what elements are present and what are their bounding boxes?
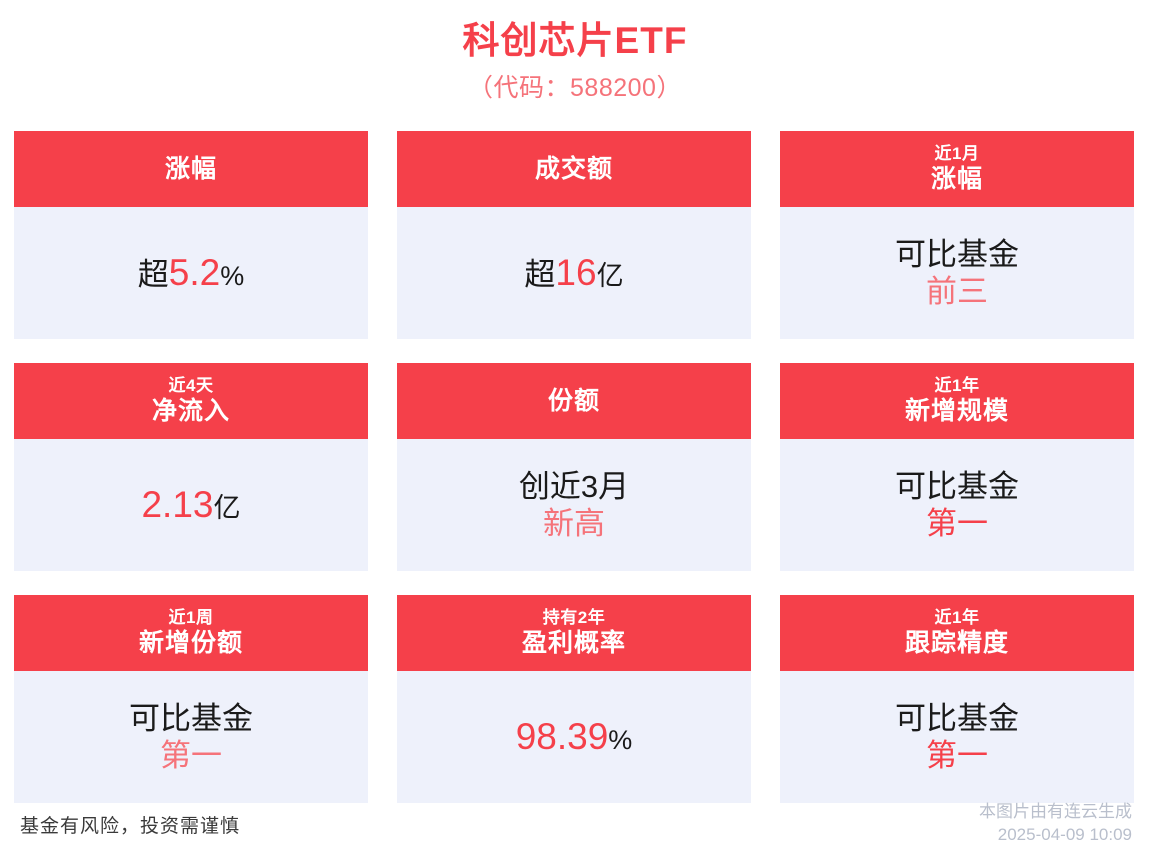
timestamp-label: 2025-04-09 10:09 (979, 823, 1132, 846)
value-unit: % (220, 261, 244, 291)
card-body: 超16亿 (397, 207, 751, 339)
card-header-sub: 持有2年 (543, 608, 605, 628)
header: 科创芯片ETF （代码：588200） (0, 0, 1150, 108)
value-number: 2.13 (141, 484, 213, 525)
card-value-line-2: 前三 (926, 273, 988, 310)
card-header-sub: 近1年 (935, 376, 980, 396)
metric-card-tracking-accuracy: 近1年 跟踪精度 可比基金 第一 (780, 595, 1134, 803)
footer-source: 本图片由有连云生成 2025-04-09 10:09 (979, 800, 1132, 846)
card-header: 涨幅 (14, 131, 368, 207)
card-header-title: 跟踪精度 (905, 629, 1009, 658)
value-unit: % (608, 725, 632, 755)
card-header: 持有2年 盈利概率 (397, 595, 751, 671)
card-header-title: 新增规模 (905, 397, 1009, 426)
card-value-line: 2.13亿 (141, 483, 240, 527)
card-value-line-2: 第一 (926, 737, 988, 774)
card-body: 2.13亿 (14, 439, 368, 571)
card-header-title: 净流入 (152, 397, 230, 426)
source-label: 本图片由有连云生成 (979, 800, 1132, 823)
card-body: 可比基金 第一 (14, 671, 368, 803)
page-title: 科创芯片ETF (0, 18, 1150, 64)
card-header: 近4天 净流入 (14, 363, 368, 439)
value-unit: 亿 (597, 261, 624, 291)
value-prefix: 超 (524, 257, 555, 292)
card-body: 可比基金 第一 (780, 439, 1134, 571)
card-header: 近1周 新增份额 (14, 595, 368, 671)
value-number: 98.39 (516, 716, 609, 757)
card-body: 超5.2% (14, 207, 368, 339)
card-value-line: 超5.2% (138, 251, 244, 295)
card-header-title: 涨幅 (165, 155, 217, 184)
disclaimer-text: 基金有风险，投资需谨慎 (20, 811, 240, 838)
card-value-line-2: 第一 (926, 505, 988, 542)
value-number: 16 (555, 252, 596, 293)
value-number: 5.2 (169, 252, 220, 293)
card-header: 近1年 跟踪精度 (780, 595, 1134, 671)
card-value-line-1: 可比基金 (129, 700, 253, 737)
card-header-title: 份额 (548, 387, 600, 416)
metric-card-change: 涨幅 超5.2% (14, 131, 368, 339)
value-prefix: 超 (138, 257, 169, 292)
card-value-line-2: 第一 (160, 737, 222, 774)
fund-code-subtitle: （代码：588200） (0, 68, 1150, 108)
value-unit: 亿 (214, 493, 241, 523)
card-value-line-1: 可比基金 (895, 468, 1019, 505)
card-header-title: 盈利概率 (522, 629, 626, 658)
card-header-title: 成交额 (535, 155, 613, 184)
card-value-line: 超16亿 (524, 251, 623, 295)
metric-card-new-scale: 近1年 新增规模 可比基金 第一 (780, 363, 1134, 571)
card-header: 份额 (397, 363, 751, 439)
card-body: 可比基金 前三 (780, 207, 1134, 339)
card-header-sub: 近1月 (935, 144, 980, 164)
card-header: 近1年 新增规模 (780, 363, 1134, 439)
card-body: 可比基金 第一 (780, 671, 1134, 803)
card-body: 98.39% (397, 671, 751, 803)
card-header-sub: 近1年 (935, 608, 980, 628)
metric-card-turnover: 成交额 超16亿 (397, 131, 751, 339)
metric-card-profit-probability: 持有2年 盈利概率 98.39% (397, 595, 751, 803)
card-header: 成交额 (397, 131, 751, 207)
card-value-line-1: 创近3月 (519, 468, 629, 505)
metric-card-month-change: 近1月 涨幅 可比基金 前三 (780, 131, 1134, 339)
card-header-sub: 近4天 (169, 376, 214, 396)
metric-card-net-inflow: 近4天 净流入 2.13亿 (14, 363, 368, 571)
card-header-sub: 近1周 (169, 608, 214, 628)
card-header-title: 涨幅 (931, 165, 983, 194)
card-value-line-1: 可比基金 (895, 700, 1019, 737)
card-header: 近1月 涨幅 (780, 131, 1134, 207)
card-value-line-2: 新高 (543, 505, 605, 542)
card-header-title: 新增份额 (139, 629, 243, 658)
poster-root: 科创芯片ETF （代码：588200） 涨幅 超5.2% 成交额 (0, 0, 1150, 860)
metric-card-new-shares: 近1周 新增份额 可比基金 第一 (14, 595, 368, 803)
metric-card-shares: 份额 创近3月 新高 (397, 363, 751, 571)
metric-grid: 涨幅 超5.2% 成交额 超16亿 近1月 涨 (14, 131, 1136, 803)
card-value-line-1: 可比基金 (895, 236, 1019, 273)
card-value-line: 98.39% (516, 715, 633, 759)
card-body: 创近3月 新高 (397, 439, 751, 571)
